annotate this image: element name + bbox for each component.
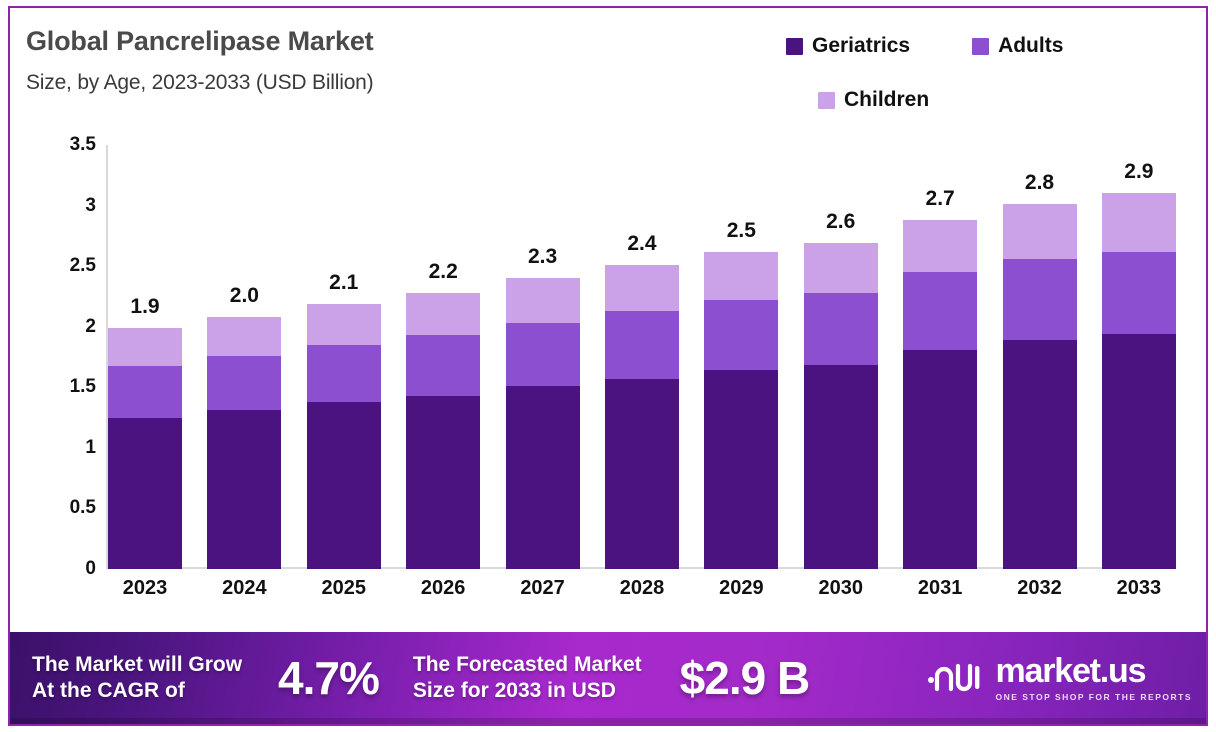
- plot-area: 00.511.522.533.5 1.92.02.12.22.32.42.52.…: [10, 133, 1206, 632]
- legend-item-geriatrics: Geriatrics: [786, 34, 910, 58]
- page-subtitle: Size, by Age, 2023-2033 (USD Billion): [26, 71, 373, 95]
- cagr-caption-line2: At the CAGR of: [32, 678, 242, 704]
- bar-stack: [108, 328, 182, 569]
- bar-segment-geriatrics[interactable]: [903, 350, 977, 569]
- bar-segment-adults[interactable]: [207, 356, 281, 411]
- bar-value-label: 2.3: [506, 245, 580, 269]
- bar-value-label: 2.0: [207, 284, 281, 308]
- bar-segment-adults[interactable]: [1102, 252, 1176, 334]
- x-axis: 2023202420252026202720282029203020312032…: [108, 577, 1176, 600]
- legend-row-bottom: Children: [786, 88, 1146, 112]
- bar-segment-geriatrics[interactable]: [307, 402, 381, 569]
- legend-row-top: Geriatrics Adults: [786, 34, 1146, 58]
- bar-stack: [903, 220, 977, 569]
- bar-segment-adults[interactable]: [307, 345, 381, 402]
- y-axis-tick: 1: [85, 437, 96, 459]
- bar-column[interactable]: 2.8: [1003, 145, 1077, 569]
- bar-column[interactable]: 2.1: [307, 145, 381, 569]
- bar-column[interactable]: 2.3: [506, 145, 580, 569]
- legend-label-children: Children: [844, 88, 929, 112]
- bar-value-label: 2.5: [704, 219, 778, 243]
- y-axis-tick: 3.5: [70, 134, 96, 156]
- bar-segment-adults[interactable]: [506, 323, 580, 386]
- infographic-container: Global Pancrelipase Market Size, by Age,…: [0, 0, 1216, 732]
- bar-segment-geriatrics[interactable]: [207, 410, 281, 569]
- brand-name: market.us: [995, 654, 1145, 688]
- bar-segment-geriatrics[interactable]: [605, 379, 679, 569]
- bar-stack: [804, 243, 878, 569]
- bar-segment-adults[interactable]: [605, 311, 679, 379]
- bar-segment-children[interactable]: [1102, 193, 1176, 251]
- bar-segment-children[interactable]: [506, 278, 580, 323]
- y-axis-tick: 2: [85, 316, 96, 338]
- forecast-caption: The Forecasted Market Size for 2033 in U…: [413, 652, 642, 705]
- forecast-caption-line2: Size for 2033 in USD: [413, 678, 642, 704]
- x-axis-tick: 2023: [108, 577, 182, 600]
- bar-segment-geriatrics[interactable]: [108, 418, 182, 569]
- bar-segment-geriatrics[interactable]: [1102, 334, 1176, 569]
- bar-segment-adults[interactable]: [903, 272, 977, 350]
- bar-column[interactable]: 2.0: [207, 145, 281, 569]
- legend-swatch-children: [818, 92, 835, 109]
- bar-stack: [406, 293, 480, 569]
- y-axis-tick: 0.5: [70, 497, 96, 519]
- x-axis-tick: 2033: [1102, 577, 1176, 600]
- x-axis-tick: 2026: [406, 577, 480, 600]
- x-axis-tick: 2031: [903, 577, 977, 600]
- bar-value-label: 2.6: [804, 210, 878, 234]
- bar-column[interactable]: 1.9: [108, 145, 182, 569]
- x-axis-tick: 2025: [307, 577, 381, 600]
- cagr-caption: The Market will Grow At the CAGR of: [32, 652, 242, 705]
- bar-column[interactable]: 2.7: [903, 145, 977, 569]
- bar-value-label: 2.4: [605, 232, 679, 256]
- forecast-value: $2.9 B: [680, 651, 810, 705]
- market-us-logo-icon: [927, 658, 983, 699]
- bar-segment-children[interactable]: [903, 220, 977, 272]
- page-title: Global Pancrelipase Market: [26, 26, 373, 57]
- bar-segment-children[interactable]: [108, 328, 182, 366]
- bar-group: 1.92.02.12.22.32.42.52.62.72.82.9: [108, 145, 1176, 569]
- y-axis-tick: 1.5: [70, 376, 96, 398]
- y-axis-tick: 0: [85, 558, 96, 580]
- bar-segment-children[interactable]: [704, 252, 778, 300]
- x-axis-tick: 2030: [804, 577, 878, 600]
- bar-value-label: 2.8: [1003, 171, 1077, 195]
- bar-value-label: 2.1: [307, 271, 381, 295]
- bar-column[interactable]: 2.6: [804, 145, 878, 569]
- bar-segment-geriatrics[interactable]: [1003, 340, 1077, 569]
- bar-stack: [207, 317, 281, 569]
- legend-item-adults: Adults: [972, 34, 1063, 58]
- x-axis-tick: 2024: [207, 577, 281, 600]
- bar-stack: [1102, 193, 1176, 569]
- bar-segment-children[interactable]: [804, 243, 878, 293]
- bar-segment-adults[interactable]: [1003, 259, 1077, 340]
- x-axis-tick: 2029: [704, 577, 778, 600]
- bar-segment-geriatrics[interactable]: [406, 396, 480, 569]
- bar-segment-children[interactable]: [307, 304, 381, 345]
- y-axis-tick: 2.5: [70, 255, 96, 277]
- title-block: Global Pancrelipase Market Size, by Age,…: [26, 26, 373, 95]
- bar-segment-geriatrics[interactable]: [506, 386, 580, 569]
- chart-legend: Geriatrics Adults Children: [786, 34, 1146, 112]
- bar-stack: [307, 304, 381, 569]
- bar-value-label: 2.7: [903, 187, 977, 211]
- y-axis-tick: 3: [85, 195, 96, 217]
- x-axis-tick: 2027: [506, 577, 580, 600]
- footer-banner: The Market will Grow At the CAGR of 4.7%…: [10, 632, 1206, 724]
- bar-column[interactable]: 2.2: [406, 145, 480, 569]
- bar-value-label: 2.9: [1102, 160, 1176, 184]
- bar-segment-adults[interactable]: [704, 300, 778, 370]
- legend-item-children: Children: [818, 88, 929, 112]
- brand-logo[interactable]: market.us ONE STOP SHOP FOR THE REPORTS: [927, 654, 1192, 702]
- forecast-caption-line1: The Forecasted Market: [413, 652, 642, 678]
- bar-stack: [605, 265, 679, 569]
- bar-segment-children[interactable]: [406, 293, 480, 335]
- cagr-caption-line1: The Market will Grow: [32, 652, 242, 678]
- x-axis-tick: 2032: [1003, 577, 1077, 600]
- bar-segment-children[interactable]: [1003, 204, 1077, 259]
- legend-swatch-geriatrics: [786, 38, 803, 55]
- brand-wordmark: market.us ONE STOP SHOP FOR THE REPORTS: [995, 654, 1192, 702]
- bar-stack: [1003, 204, 1077, 569]
- bar-segment-adults[interactable]: [406, 335, 480, 396]
- legend-label-geriatrics: Geriatrics: [812, 34, 910, 58]
- x-axis-tick: 2028: [605, 577, 679, 600]
- bar-segment-children[interactable]: [207, 317, 281, 356]
- bar-value-label: 2.2: [406, 260, 480, 284]
- cagr-value: 4.7%: [278, 651, 379, 705]
- chart-header: Global Pancrelipase Market Size, by Age,…: [10, 8, 1206, 133]
- chart-frame: Global Pancrelipase Market Size, by Age,…: [8, 6, 1208, 726]
- bar-column[interactable]: 2.9: [1102, 145, 1176, 569]
- bar-segment-children[interactable]: [605, 265, 679, 311]
- bar-segment-adults[interactable]: [108, 366, 182, 418]
- y-axis: 00.511.522.533.5: [36, 145, 96, 569]
- bar-stack: [704, 252, 778, 569]
- bar-segment-geriatrics[interactable]: [704, 370, 778, 569]
- bar-stack: [506, 278, 580, 569]
- legend-label-adults: Adults: [998, 34, 1063, 58]
- bar-segment-adults[interactable]: [804, 293, 878, 366]
- bar-column[interactable]: 2.4: [605, 145, 679, 569]
- bar-column[interactable]: 2.5: [704, 145, 778, 569]
- bar-value-label: 1.9: [108, 295, 182, 319]
- brand-tagline: ONE STOP SHOP FOR THE REPORTS: [995, 692, 1192, 702]
- bar-segment-geriatrics[interactable]: [804, 365, 878, 569]
- legend-swatch-adults: [972, 38, 989, 55]
